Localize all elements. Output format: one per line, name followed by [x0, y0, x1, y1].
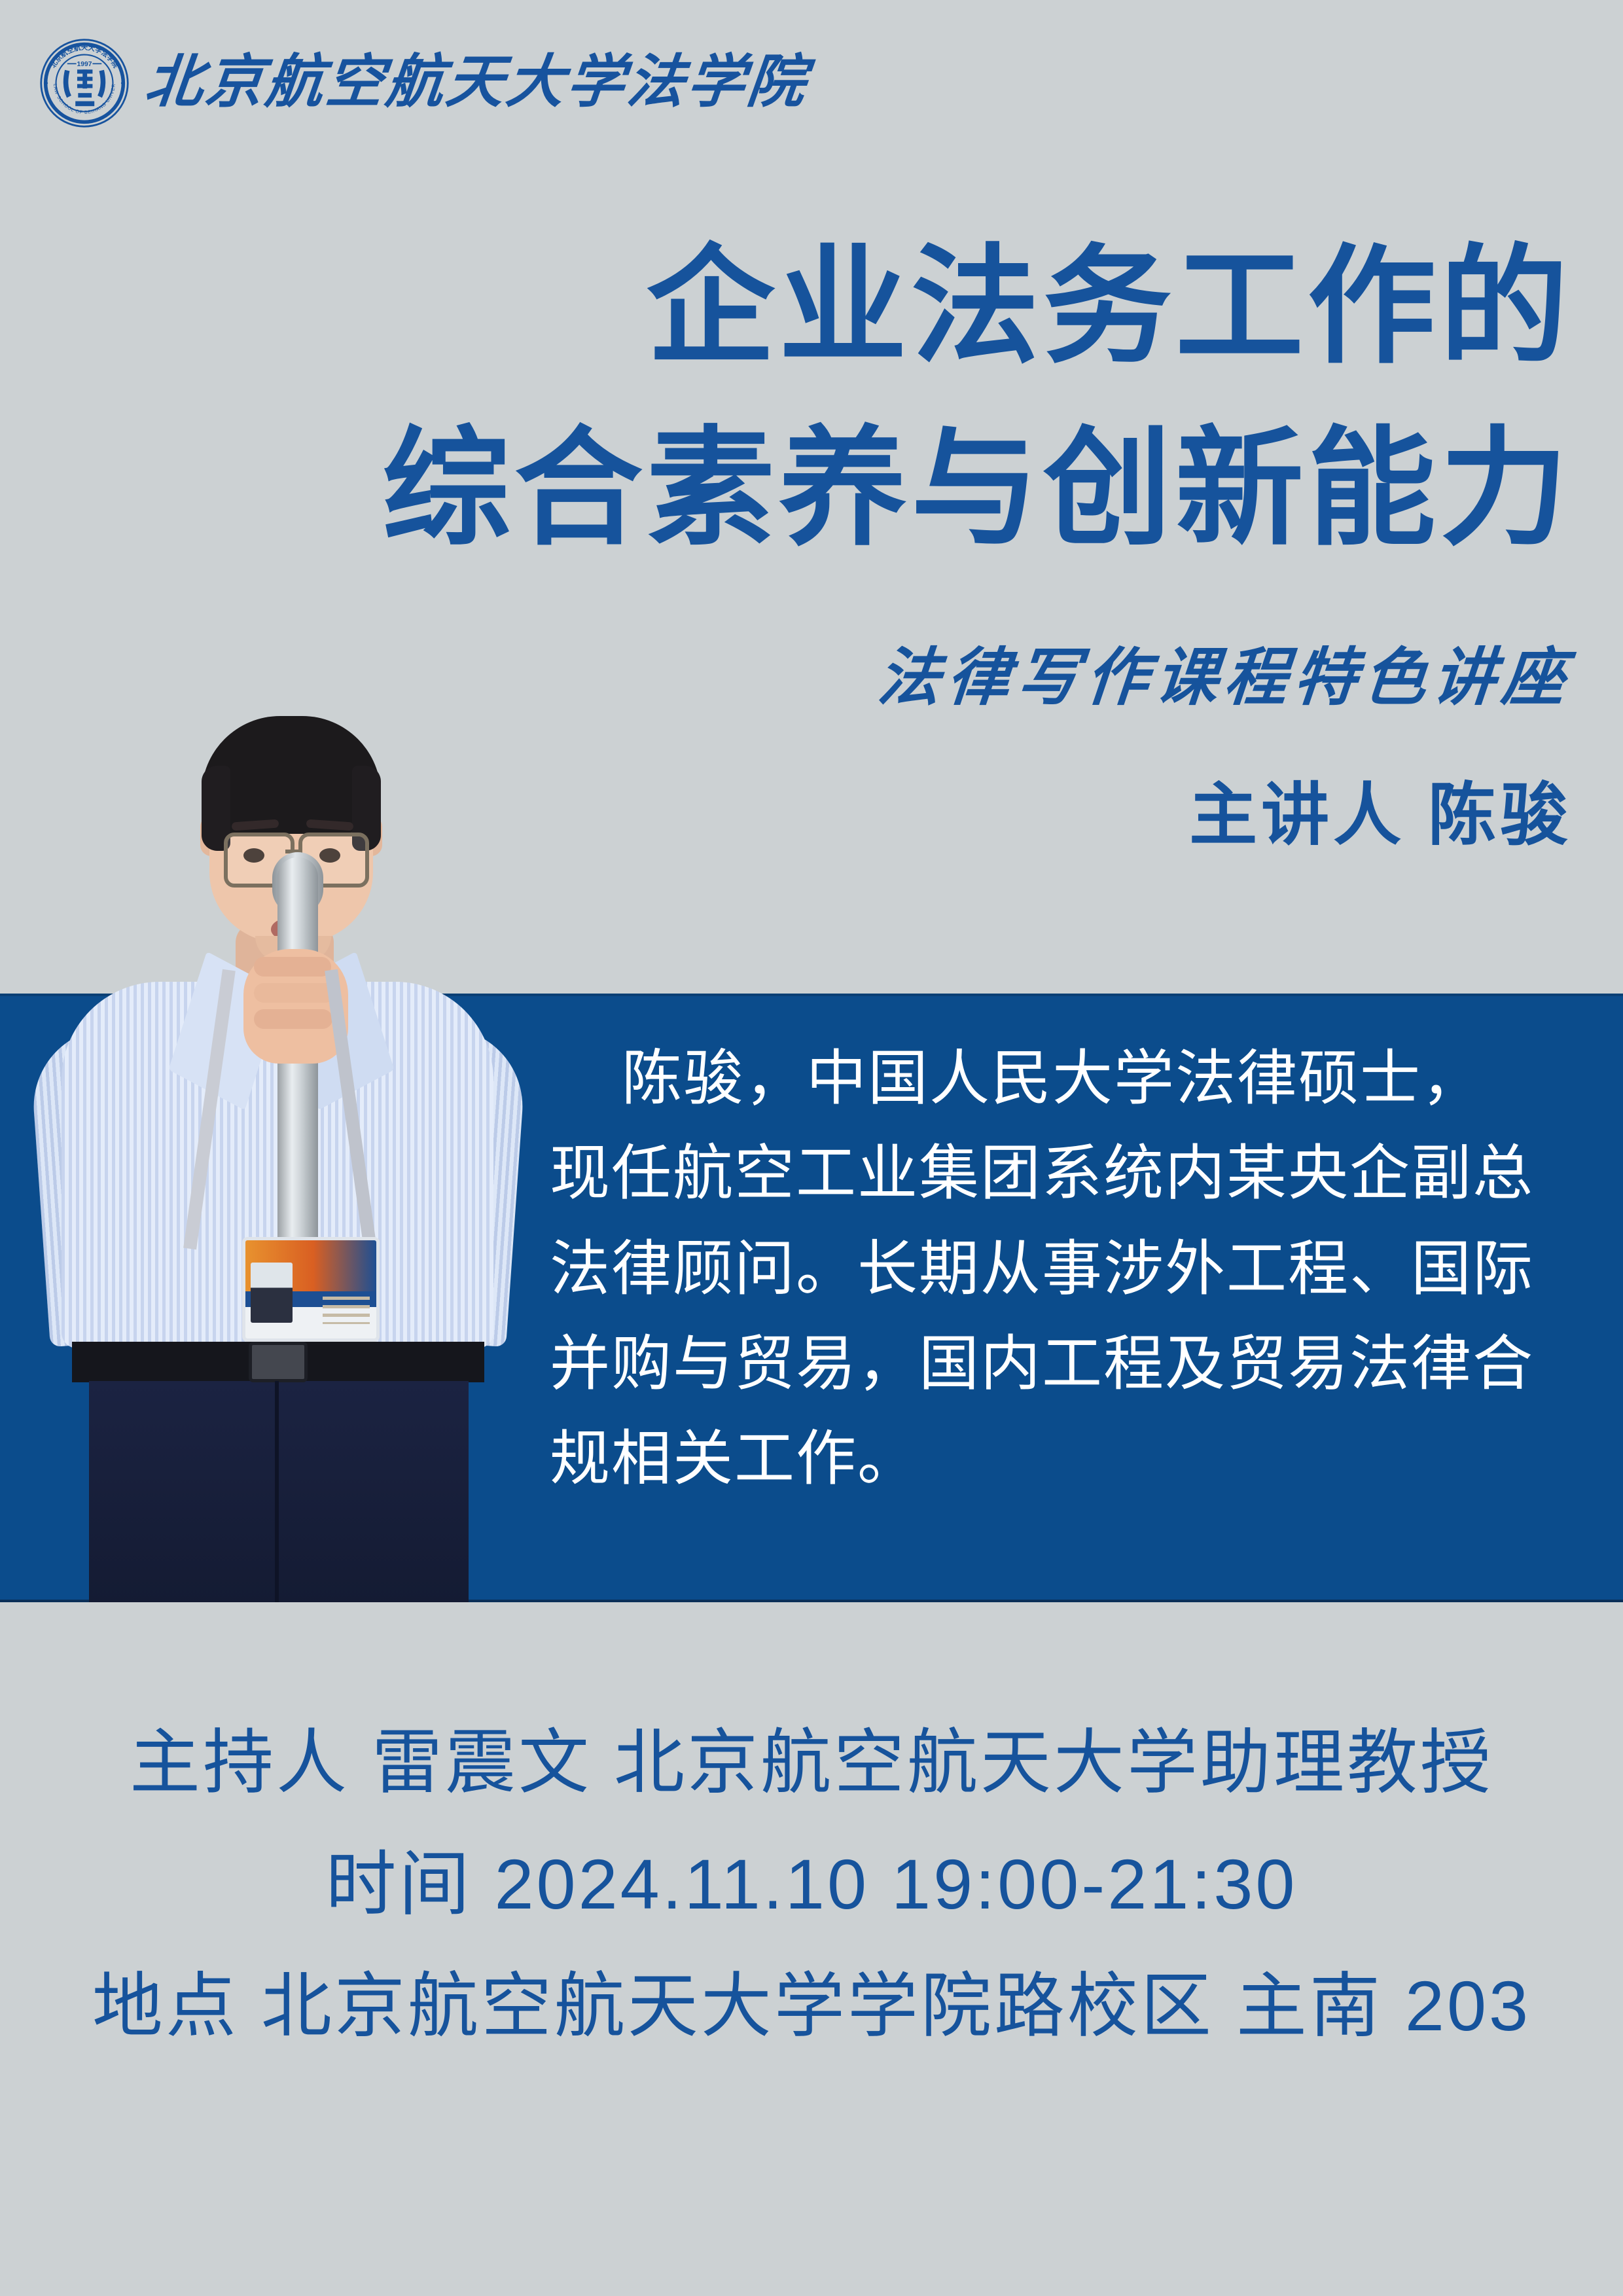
header: 北京航空航天大学法学院 THE LAW SCHOOL OF BEIHANG UN…	[39, 38, 808, 128]
bio-line: 规相关工作。	[550, 1412, 1571, 1507]
trouser-seam	[275, 1381, 279, 1602]
id-badge-portrait	[251, 1263, 293, 1323]
finger-middle	[254, 983, 335, 1003]
svg-text:1997: 1997	[77, 61, 92, 68]
venue-line: 地点 北京航空航天大学学院路校区 主南 203	[0, 1945, 1623, 2067]
id-badge	[242, 1237, 380, 1342]
title-line-2: 综合素养与创新能力	[382, 398, 1572, 580]
bio-line: 法律顾问。长期从事涉外工程、国际	[550, 1222, 1571, 1317]
finger-lower	[254, 1009, 332, 1029]
lecture-series-subtitle: 法律写作课程特色讲座	[378, 626, 1576, 717]
poster-root: 北京航空航天大学法学院 THE LAW SCHOOL OF BEIHANG UN…	[0, 0, 1623, 2296]
id-badge-text-lines	[323, 1297, 370, 1324]
belt-buckle	[249, 1342, 308, 1382]
bio-line: 陈骏，中国人民大学法律硕士，	[550, 1031, 1571, 1126]
speaker-bio: 陈骏，中国人民大学法律硕士， 现任航空工业集团系统内某央企副总 法律顾问。长期从…	[550, 1031, 1571, 1507]
speaker-photo	[13, 661, 550, 1602]
bio-line: 并购与贸易，国内工程及贸易法律合	[550, 1317, 1571, 1412]
speaker-name-label: 主讲人 陈骏	[382, 759, 1572, 858]
bio-line: 现任航空工业集团系统内某央企副总	[550, 1126, 1571, 1221]
title-line-1: 企业法务工作的	[382, 216, 1572, 398]
finger-upper	[254, 957, 331, 977]
beihang-law-school-emblem-icon: 北京航空航天大学法学院 THE LAW SCHOOL OF BEIHANG UN…	[39, 38, 130, 128]
time-line: 时间 2024.11.10 19:00-21:30	[0, 1823, 1623, 1945]
host-line: 主持人 雷震文 北京航空航天大学助理教授	[0, 1702, 1623, 1823]
trousers	[89, 1381, 469, 1602]
school-name-text: 北京航空航天大学法学院	[142, 54, 810, 112]
event-details: 主持人 雷震文 北京航空航天大学助理教授 时间 2024.11.10 19:00…	[0, 1702, 1623, 2066]
title-block: 企业法务工作的 综合素养与创新能力 法律写作课程特色讲座 主讲人 陈骏	[382, 216, 1572, 858]
